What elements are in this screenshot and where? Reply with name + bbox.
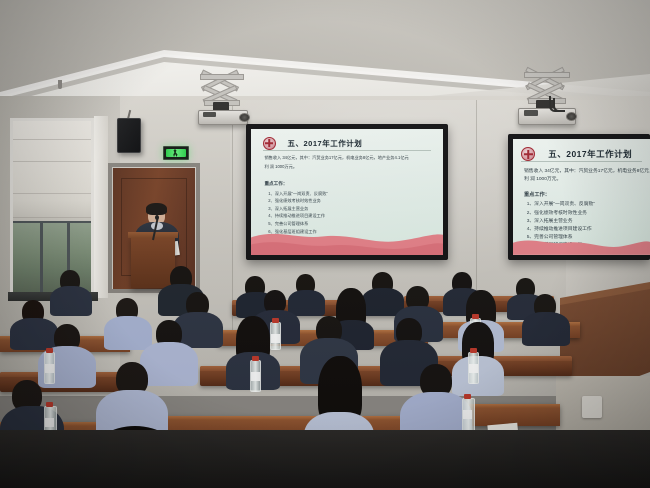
slide-item-1: 1、深入开展“一岗双责、反腐败” [527, 200, 595, 207]
slide-item-3: 3、深入拓展主营业务 [268, 206, 308, 212]
roller-blind [13, 121, 91, 223]
slide-title: 五、2017年工作计划 [288, 138, 363, 149]
exit-sign-icon [163, 146, 189, 160]
water-bottle [44, 352, 55, 384]
right-projection-screen[interactable]: 五、2017年工作计划 销售收入 34亿元，其中：汽贸业务17亿元，机电业务8亿… [508, 134, 650, 260]
wall-speaker-icon [117, 118, 141, 153]
conference-room-photo: 五、2017年工作计划 销售收入 34亿元，其中：汽贸业务17亿元，机电业务8亿… [0, 0, 650, 488]
window-reveal [94, 116, 108, 298]
slide-section-heading: 重点工作： [524, 191, 550, 198]
slide-wave-graphic [513, 234, 650, 255]
water-bottle [462, 398, 475, 432]
foreground-shadow [0, 430, 650, 488]
company-emblem-icon [263, 137, 276, 150]
wall-seam-left [232, 100, 233, 330]
left-projection-screen[interactable]: 五、2017年工作计划 销售收入 34亿元，其中：汽贸业务17亿元，机电业务8亿… [246, 124, 448, 260]
left-screen-surface: 五、2017年工作计划 销售收入 34亿元，其中：汽贸业务17亿元，机电业务8亿… [251, 129, 443, 255]
slide-content-left: 五、2017年工作计划 销售收入 34亿元，其中：汽贸业务17亿元，机电业务8亿… [251, 129, 443, 255]
slide-body-line-2: 利 润 1000万元。 [264, 164, 297, 170]
slide-wave-graphic [251, 225, 443, 255]
slide-item-3: 3、深入拓展主营业务 [527, 217, 573, 224]
podium [131, 236, 175, 288]
slide-section-heading: 重点工作： [264, 181, 287, 187]
microphone-head [155, 215, 159, 220]
company-emblem-icon [521, 147, 535, 161]
slide-item-2: 2、强化绩效考核时效性业务 [268, 198, 321, 204]
slide-item-2: 2、强化绩效考核时效性业务 [527, 209, 587, 216]
water-bottle [468, 352, 479, 384]
slide-title: 五、2017年工作计划 [548, 148, 632, 160]
slide-content-right: 五、2017年工作计划 销售收入 34亿元，其中：汽贸业务17亿元，机电业务8亿… [513, 139, 650, 255]
slide-body-line-1: 销售收入 34亿元，其中：汽贸业务17亿元，机电业务8亿元，地产业务4.1亿元 [524, 167, 650, 174]
window [10, 118, 94, 296]
slide-item-4: 4、持续推动推进项目建设工作 [268, 213, 325, 219]
paper-cup [582, 396, 602, 418]
right-screen-surface: 五、2017年工作计划 销售收入 34亿元，其中：汽贸业务17亿元，机电业务8亿… [513, 139, 650, 255]
slide-item-4: 4、持续推动推进项目建设工作 [527, 225, 592, 232]
slide-item-1: 1、深入开展“一岗双责、反腐败” [268, 191, 328, 197]
slide-body-line-2: 利 润 1000万元。 [524, 175, 561, 182]
slide-body-line-1: 销售收入 34亿元，其中：汽贸业务17亿元，机电业务8亿元，地产业务4.1亿元 [264, 155, 408, 161]
water-bottle [250, 360, 261, 392]
water-bottle [270, 322, 281, 350]
ceiling-fixture-nub [58, 80, 62, 89]
